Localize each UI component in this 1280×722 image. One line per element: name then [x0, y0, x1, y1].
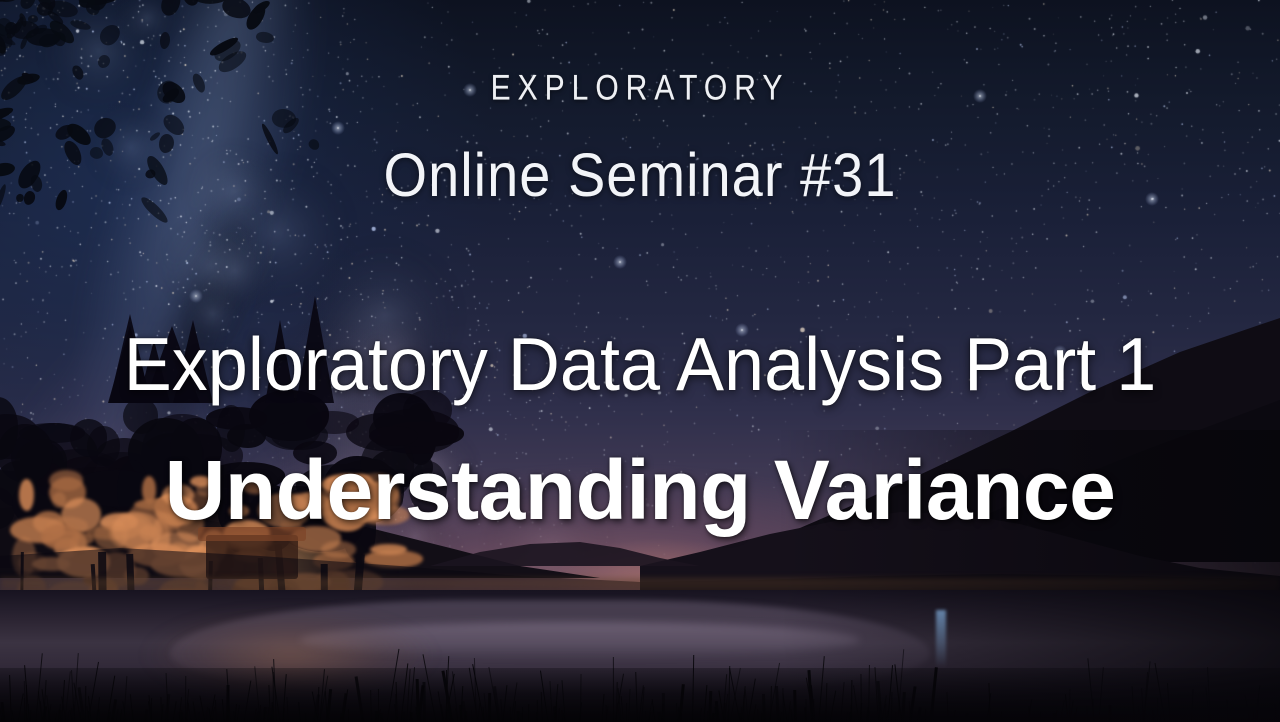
- title-text-block: EXPLORATORY Online Seminar #31 Explorato…: [0, 0, 1280, 722]
- page-title: Exploratory Data Analysis Part 1: [0, 322, 1280, 408]
- seminar-title-slide: EXPLORATORY Online Seminar #31 Explorato…: [0, 0, 1280, 722]
- brand-label: EXPLORATORY: [0, 69, 1280, 109]
- seminar-number: Online Seminar #31: [0, 139, 1280, 211]
- page-subtitle: Understanding Variance: [0, 442, 1280, 539]
